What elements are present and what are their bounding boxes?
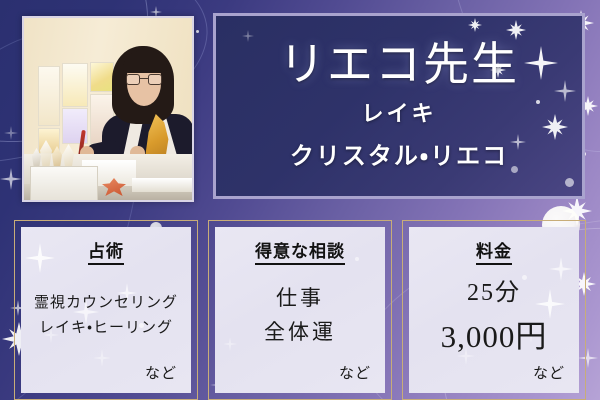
title-subtitle: レイキ <box>361 96 436 128</box>
card-divination: 占術 霊視カウンセリング レイキ・ヒーリング など <box>14 220 198 400</box>
sparkle-star-icon <box>4 126 18 140</box>
card-note: など <box>339 362 375 383</box>
card-note: など <box>145 362 181 383</box>
card-line: 3,000円 <box>441 311 548 356</box>
title-panel: リエコ先生 レイキ クリスタル・リエコ <box>213 13 585 199</box>
page-title: リエコ先生 <box>279 41 519 89</box>
card-line: 霊視カウンセリング <box>34 291 178 312</box>
promo-banner: リエコ先生 レイキ クリスタル・リエコ 占術 霊視カウンセリング レ <box>0 0 600 400</box>
info-card-row: 占術 霊視カウンセリング レイキ・ヒーリング など 得意な相談 仕事 全体運 <box>0 220 600 400</box>
card-consultation: 得意な相談 仕事 全体運 など <box>208 220 392 400</box>
sparkle-dot-icon <box>196 30 199 33</box>
card-line: 全体運 <box>264 316 336 346</box>
card-line: 仕事 <box>276 282 324 312</box>
paper-stack <box>132 178 192 192</box>
card-line: レイキ・ヒーリング <box>39 316 173 337</box>
wall-poster <box>90 62 114 92</box>
display-case <box>30 166 98 202</box>
wall-poster <box>62 63 88 107</box>
card-heading: 料金 <box>476 237 512 265</box>
sparkle-dot-icon <box>355 257 359 261</box>
card-price: 料金 25分 3,000円 など <box>402 220 586 400</box>
card-note: など <box>533 362 569 383</box>
eyeglasses-icon <box>126 74 162 85</box>
sparkle-star-icon <box>0 168 22 190</box>
practitioner-photo <box>22 16 194 202</box>
photo-content <box>24 18 192 200</box>
card-heading: 占術 <box>88 237 124 265</box>
wall-poster <box>38 66 60 126</box>
card-heading: 得意な相談 <box>255 237 345 265</box>
title-tagline: クリスタル・リエコ <box>290 136 508 171</box>
crystal-icon <box>63 144 74 168</box>
card-line: 25分 <box>467 272 521 307</box>
person-bangs <box>123 51 167 73</box>
